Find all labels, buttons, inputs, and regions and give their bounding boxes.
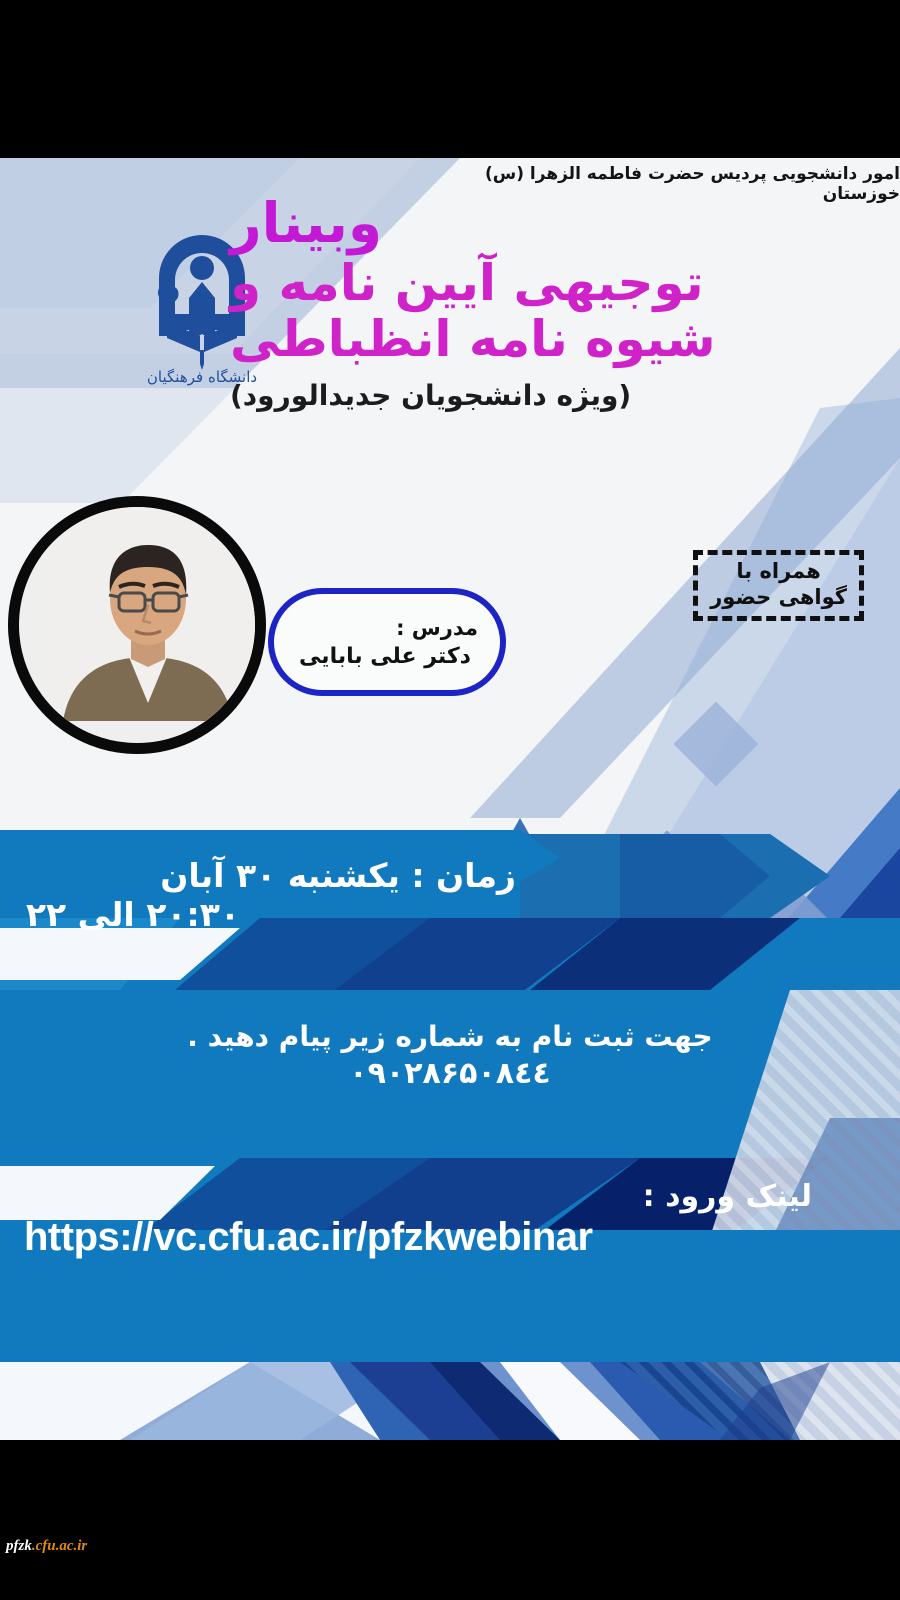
webinar-poster: امور دانشجویی پردیس حضرت فاطمه الزهرا (س…	[0, 158, 900, 1440]
screenshot-canvas: امور دانشجویی پردیس حضرت فاطمه الزهرا (س…	[0, 0, 900, 1600]
site-watermark: pfzk.cfu.ac.ir	[6, 1538, 87, 1555]
presenter-badge: مدرس : دکتر علی بابایی	[268, 588, 506, 696]
presenter-avatar	[8, 496, 266, 754]
watermark-part-2: .cfu.ac.ir	[32, 1538, 87, 1554]
letterbox-top	[0, 0, 900, 158]
title-kicker: وبینار	[230, 196, 870, 251]
presenter-name: دکتر علی بابایی	[292, 644, 478, 669]
letterbox-bottom	[0, 1440, 900, 1600]
schedule-block: زمان : یکشنبه ۳۰ آبان ۲۰:۳۰ الی ۲۲	[0, 858, 900, 935]
registration-block: جهت ثبت نام به شماره زیر پیام دهید . ۰۹۰…	[0, 1020, 900, 1094]
entry-link-label: لینک ورود :	[0, 1180, 900, 1213]
poster-title-block: وبینار توجیهی آیین نامه و شیوه نامه انظب…	[230, 196, 870, 412]
watermark-part-1: pfzk	[6, 1538, 32, 1554]
registration-phone[interactable]: ۰۹۰۲۸۶۵۰۸٤٤	[0, 1054, 900, 1095]
registration-instruction: جهت ثبت نام به شماره زیر پیام دهید .	[0, 1020, 900, 1054]
presenter-role-label: مدرس :	[292, 616, 478, 640]
schedule-time: ۲۰:۳۰ الی ۲۲	[0, 895, 900, 935]
title-line-1: توجیهی آیین نامه و	[230, 255, 870, 311]
certificate-note-line-1: همراه با	[710, 559, 847, 585]
title-subtitle: (ویژه دانشجویان جدیدالورود)	[230, 379, 870, 412]
entry-link-url[interactable]: https://vc.cfu.ac.ir/pfzkwebinar	[0, 1215, 900, 1260]
schedule-date: زمان : یکشنبه ۳۰ آبان	[0, 858, 900, 895]
entry-link-block: لینک ورود : https://vc.cfu.ac.ir/pfzkweb…	[0, 1180, 900, 1260]
certificate-note-line-2: گواهی حضور	[710, 585, 847, 611]
title-line-2: شیوه نامه انظباطی	[230, 311, 870, 367]
certificate-note: همراه با گواهی حضور	[693, 550, 864, 621]
